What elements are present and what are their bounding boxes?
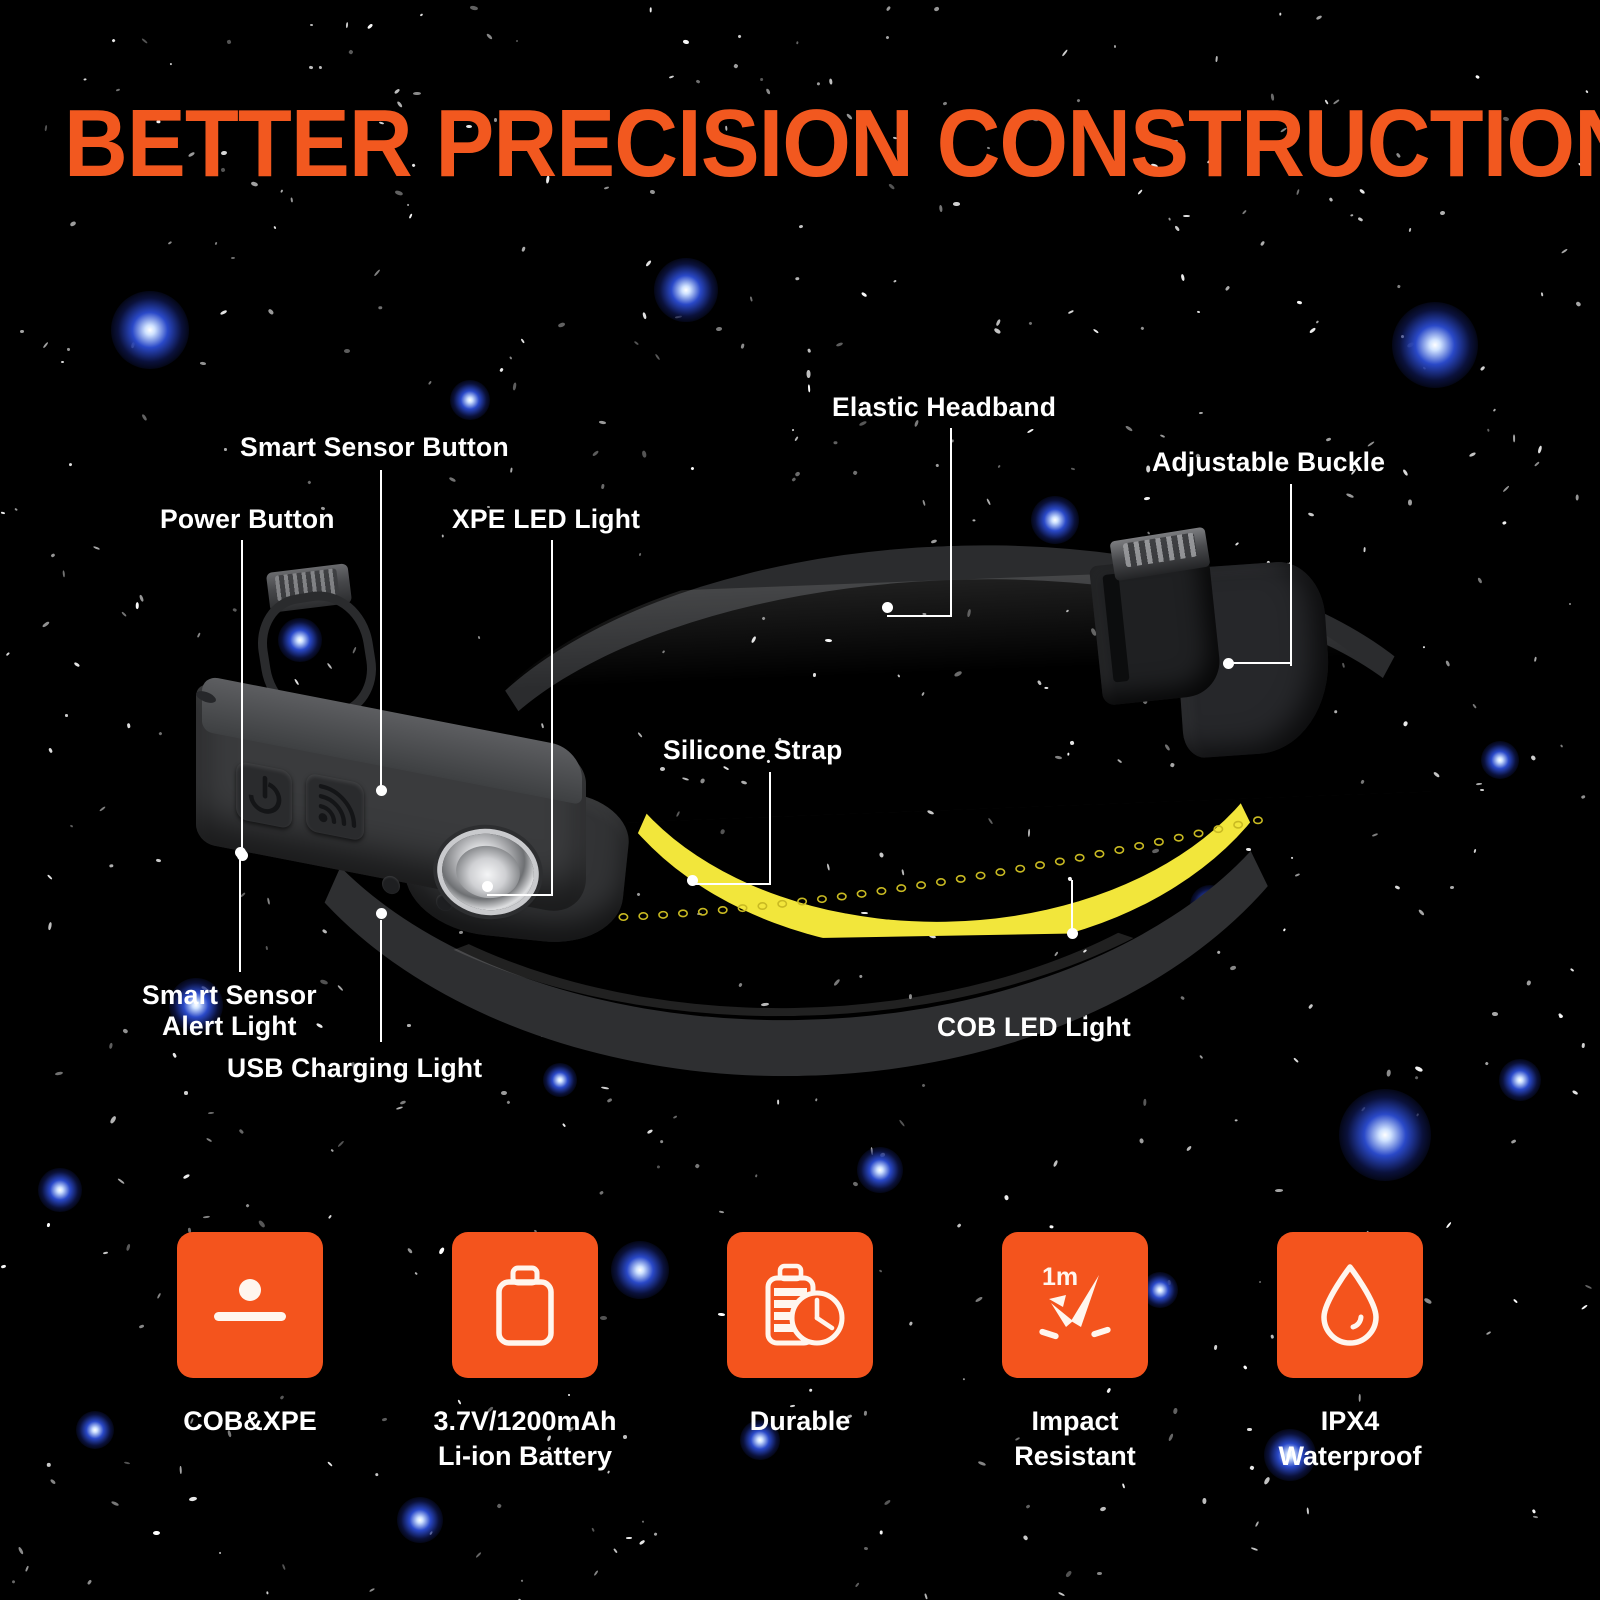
star-speck bbox=[716, 326, 722, 331]
star-speck bbox=[1328, 197, 1333, 202]
star-speck bbox=[994, 327, 1002, 334]
star-speck bbox=[1139, 1138, 1144, 1144]
star-speck bbox=[1372, 833, 1378, 837]
star-speck bbox=[1326, 437, 1332, 441]
star-speck bbox=[738, 34, 742, 38]
impact-arrow-icon: 1m bbox=[1025, 1255, 1125, 1355]
star-speck bbox=[43, 342, 49, 349]
star-speck bbox=[110, 1116, 117, 1124]
star-speck bbox=[506, 1100, 510, 1104]
star-speck bbox=[1469, 452, 1477, 458]
star-speck bbox=[307, 481, 311, 485]
star-speck bbox=[155, 859, 160, 863]
impact-tile: 1m bbox=[1002, 1232, 1148, 1378]
star-speck bbox=[861, 292, 868, 298]
power-button[interactable] bbox=[236, 761, 292, 830]
star-speck bbox=[696, 79, 701, 84]
star-speck bbox=[655, 354, 661, 361]
star-speck bbox=[117, 1178, 125, 1185]
star-speck bbox=[1409, 228, 1412, 232]
star-speck bbox=[268, 308, 275, 315]
star-speck bbox=[476, 1552, 482, 1558]
feature-label: IPX4 Waterproof bbox=[1279, 1404, 1422, 1474]
star-glow bbox=[111, 291, 189, 369]
star-speck bbox=[122, 1029, 128, 1035]
star-speck bbox=[139, 1324, 145, 1328]
star-speck bbox=[1511, 1139, 1517, 1144]
star-speck bbox=[1141, 326, 1145, 330]
star-speck bbox=[367, 23, 373, 29]
star-speck bbox=[396, 1106, 404, 1110]
star-speck bbox=[1575, 301, 1581, 307]
star-speck bbox=[855, 1583, 860, 1588]
power-icon bbox=[236, 761, 294, 830]
star-speck bbox=[1474, 849, 1477, 853]
callout-pointer-dot bbox=[376, 785, 387, 796]
star-speck bbox=[1415, 1066, 1423, 1073]
star-speck bbox=[1415, 1075, 1419, 1079]
star-speck bbox=[1480, 789, 1484, 792]
star-speck bbox=[1532, 1509, 1536, 1514]
star-speck bbox=[853, 1182, 859, 1187]
callout-leader-line bbox=[487, 894, 553, 896]
star-speck bbox=[1097, 1572, 1102, 1575]
star-speck bbox=[182, 1173, 190, 1179]
star-speck bbox=[853, 470, 858, 475]
star-speck bbox=[111, 38, 115, 42]
star-speck bbox=[126, 1244, 131, 1251]
star-speck bbox=[1022, 1535, 1028, 1542]
star-speck bbox=[1297, 301, 1302, 305]
star-speck bbox=[1147, 465, 1151, 472]
cob-xpe-icon bbox=[200, 1255, 300, 1355]
star-speck bbox=[995, 319, 1001, 327]
star-speck bbox=[419, 13, 422, 16]
star-speck bbox=[1215, 56, 1218, 62]
star-speck bbox=[1027, 429, 1034, 434]
star-speck bbox=[777, 1100, 779, 1105]
feature-label: COB&XPE bbox=[183, 1404, 317, 1439]
star-speck bbox=[102, 1251, 107, 1254]
star-speck bbox=[1491, 1011, 1497, 1015]
star-speck bbox=[408, 213, 412, 219]
star-speck bbox=[184, 1091, 188, 1095]
star-speck bbox=[795, 471, 802, 477]
star-speck bbox=[834, 441, 838, 444]
star-speck bbox=[886, 6, 892, 12]
battery-icon bbox=[475, 1255, 575, 1355]
star-speck bbox=[1143, 1098, 1146, 1105]
star-speck bbox=[1114, 45, 1117, 48]
star-glow bbox=[1339, 1089, 1431, 1181]
star-speck bbox=[807, 370, 811, 378]
star-speck bbox=[54, 1071, 62, 1076]
callout-label-cob-led-light: COB LED Light bbox=[937, 1012, 1131, 1043]
star-speck bbox=[515, 40, 518, 42]
star-speck bbox=[1569, 603, 1571, 605]
star-speck bbox=[1408, 500, 1412, 506]
star-speck bbox=[369, 1587, 375, 1592]
star-speck bbox=[110, 864, 114, 867]
star-speck bbox=[141, 38, 148, 44]
star-speck bbox=[99, 806, 105, 812]
star-speck bbox=[1005, 1194, 1010, 1200]
star-speck bbox=[282, 1564, 286, 1570]
star-speck bbox=[791, 477, 796, 482]
star-speck bbox=[267, 1591, 269, 1594]
star-speck bbox=[1316, 320, 1320, 324]
star-speck bbox=[50, 1479, 56, 1485]
star-speck bbox=[1386, 1069, 1391, 1077]
callout-leader-line bbox=[380, 920, 382, 1042]
star-speck bbox=[42, 621, 50, 628]
star-glow bbox=[38, 1168, 82, 1212]
star-speck bbox=[379, 306, 383, 309]
feature-label: Durable bbox=[750, 1404, 851, 1439]
star-speck bbox=[601, 1086, 609, 1090]
star-speck bbox=[1502, 521, 1507, 525]
star-speck bbox=[599, 420, 606, 424]
star-speck bbox=[1, 1264, 7, 1269]
star-speck bbox=[1581, 1304, 1588, 1310]
star-speck bbox=[169, 62, 172, 65]
callout-leader-line bbox=[380, 470, 382, 792]
star-speck bbox=[807, 348, 811, 353]
star-speck bbox=[69, 463, 72, 466]
star-speck bbox=[139, 595, 144, 603]
star-speck bbox=[816, 82, 820, 86]
star-speck bbox=[1538, 445, 1543, 454]
star-speck bbox=[344, 349, 350, 353]
star-speck bbox=[521, 1580, 524, 1583]
star-speck bbox=[522, 247, 526, 252]
star-speck bbox=[69, 825, 72, 828]
star-speck bbox=[591, 450, 598, 456]
star-speck bbox=[227, 39, 232, 44]
star-speck bbox=[407, 1024, 411, 1027]
star-glow bbox=[1392, 302, 1478, 388]
star-speck bbox=[1449, 886, 1454, 890]
callout-label-adjustable-buckle: Adjustable Buckle bbox=[1152, 447, 1385, 478]
star-speck bbox=[1476, 783, 1483, 786]
star-speck bbox=[952, 439, 954, 442]
star-speck bbox=[1070, 468, 1075, 471]
star-speck bbox=[349, 49, 354, 54]
star-speck bbox=[1197, 311, 1201, 314]
star-speck bbox=[231, 256, 235, 258]
star-speck bbox=[650, 7, 652, 12]
star-speck bbox=[330, 1149, 333, 1152]
star-speck bbox=[501, 1091, 507, 1095]
star-speck bbox=[172, 1053, 177, 1059]
star-speck bbox=[245, 1203, 249, 1207]
star-speck bbox=[126, 723, 130, 728]
star-speck bbox=[733, 63, 738, 68]
star-speck bbox=[47, 922, 51, 930]
star-speck bbox=[141, 414, 147, 421]
feature-cob-xpe: COB&XPE bbox=[150, 1232, 350, 1532]
star-speck bbox=[656, 1165, 660, 1169]
star-speck bbox=[14, 508, 17, 511]
star-speck bbox=[1534, 461, 1540, 467]
star-speck bbox=[1446, 1221, 1452, 1228]
star-speck bbox=[25, 1566, 29, 1572]
star-speck bbox=[1160, 434, 1165, 438]
star-speck bbox=[794, 437, 798, 442]
star-speck bbox=[1357, 217, 1363, 222]
smart-sensor-button[interactable] bbox=[306, 772, 364, 841]
star-speck bbox=[719, 1210, 725, 1213]
star-speck bbox=[1307, 512, 1314, 517]
star-speck bbox=[934, 6, 940, 12]
star-speck bbox=[1199, 1055, 1204, 1060]
star-speck bbox=[601, 484, 605, 490]
star-speck bbox=[1180, 274, 1185, 282]
star-speck bbox=[1242, 209, 1247, 214]
star-speck bbox=[1513, 1298, 1518, 1303]
star-speck bbox=[997, 465, 1001, 469]
star-glow bbox=[543, 1063, 577, 1097]
callout-pointer-dot bbox=[235, 847, 246, 858]
star-speck bbox=[1403, 469, 1409, 476]
star-speck bbox=[1062, 50, 1068, 57]
feature-durable: Durable bbox=[700, 1232, 900, 1532]
star-speck bbox=[1225, 286, 1230, 291]
feature-ipx4-waterproof: IPX4 Waterproof bbox=[1250, 1232, 1450, 1532]
star-speck bbox=[807, 385, 810, 393]
star-speck bbox=[87, 1580, 92, 1585]
star-speck bbox=[220, 310, 227, 316]
star-speck bbox=[1309, 327, 1316, 334]
callout-label-silicone-strap: Silicone Strap bbox=[663, 735, 843, 766]
star-speck bbox=[1275, 1188, 1283, 1191]
star-speck bbox=[290, 197, 293, 203]
star-speck bbox=[886, 36, 890, 40]
star-speck bbox=[755, 1175, 758, 1178]
star-speck bbox=[562, 1123, 566, 1127]
callout-leader-line bbox=[1228, 662, 1292, 664]
star-speck bbox=[1058, 1592, 1065, 1597]
star-speck bbox=[647, 1129, 654, 1135]
star-speck bbox=[428, 381, 432, 385]
star-glow bbox=[1481, 741, 1519, 779]
star-speck bbox=[921, 1083, 925, 1087]
headlamp-product-image bbox=[180, 520, 1320, 1020]
star-speck bbox=[328, 1214, 332, 1218]
star-speck bbox=[1363, 547, 1365, 552]
star-speck bbox=[470, 5, 478, 10]
star-speck bbox=[1572, 1089, 1579, 1095]
star-speck bbox=[1124, 425, 1132, 432]
feature-label: 3.7V/1200mAh Li-ion Battery bbox=[433, 1404, 616, 1474]
star-speck bbox=[48, 748, 53, 754]
callout-pointer-dot bbox=[882, 602, 893, 613]
star-speck bbox=[987, 498, 992, 506]
star-glow bbox=[450, 380, 490, 420]
star-speck bbox=[206, 1138, 213, 1143]
star-speck bbox=[69, 220, 76, 226]
callout-pointer-dot bbox=[1067, 928, 1078, 939]
star-speck bbox=[203, 1215, 210, 1218]
star-speck bbox=[1484, 1061, 1488, 1065]
star-speck bbox=[374, 269, 380, 276]
star-speck bbox=[124, 1462, 131, 1465]
star-speck bbox=[1582, 794, 1586, 798]
star-speck bbox=[936, 463, 939, 467]
feature-impact-resistant: 1m Impact Resistant bbox=[975, 1232, 1175, 1532]
star-speck bbox=[46, 1222, 49, 1226]
star-speck bbox=[214, 242, 217, 246]
star-speck bbox=[74, 662, 80, 667]
star-speck bbox=[639, 1540, 645, 1545]
star-speck bbox=[1049, 1225, 1053, 1228]
star-speck bbox=[17, 1546, 23, 1554]
star-speck bbox=[815, 1098, 818, 1101]
battery-tile bbox=[452, 1232, 598, 1378]
lamp-housing bbox=[196, 692, 616, 932]
star-speck bbox=[953, 202, 960, 206]
star-speck bbox=[1530, 755, 1536, 761]
callout-label-xpe-led-light: XPE LED Light bbox=[452, 504, 640, 535]
star-speck bbox=[1575, 495, 1578, 501]
star-speck bbox=[796, 41, 799, 44]
star-speck bbox=[1479, 366, 1484, 371]
star-speck bbox=[893, 280, 896, 283]
star-speck bbox=[1446, 660, 1451, 666]
star-speck bbox=[829, 79, 833, 85]
impact-height-badge: 1m bbox=[1042, 1263, 1078, 1291]
star-speck bbox=[208, 1111, 214, 1113]
star-speck bbox=[750, 296, 753, 301]
star-speck bbox=[346, 22, 349, 28]
star-speck bbox=[1251, 1547, 1258, 1551]
star-speck bbox=[1540, 292, 1543, 296]
star-speck bbox=[796, 277, 800, 281]
star-speck bbox=[924, 1593, 928, 1599]
star-speck bbox=[606, 1097, 611, 1102]
star-speck bbox=[641, 450, 646, 457]
callout-label-smart-sensor-alert-light: Smart Sensor Alert Light bbox=[142, 980, 317, 1043]
star-glow bbox=[857, 1147, 903, 1193]
callout-label-smart-sensor-button: Smart Sensor Button bbox=[240, 432, 509, 463]
infographic-page: BETTER PRECISION CONSTRUCTION bbox=[0, 0, 1600, 1600]
star-speck bbox=[258, 1219, 266, 1227]
waterproof-tile bbox=[1277, 1232, 1423, 1378]
star-speck bbox=[1585, 1285, 1592, 1290]
star-speck bbox=[200, 361, 207, 364]
feature-label: Impact Resistant bbox=[1014, 1404, 1136, 1474]
star-speck bbox=[634, 340, 639, 344]
star-speck bbox=[1512, 434, 1515, 442]
star-speck bbox=[1526, 980, 1531, 986]
star-speck bbox=[45, 125, 48, 131]
star-speck bbox=[136, 602, 140, 609]
star-speck bbox=[121, 612, 127, 618]
star-speck bbox=[239, 1129, 244, 1134]
star-speck bbox=[508, 356, 512, 360]
callout-pointer-dot bbox=[1223, 658, 1234, 669]
star-speck bbox=[158, 732, 162, 736]
star-speck bbox=[1486, 1331, 1492, 1335]
star-speck bbox=[47, 1463, 51, 1467]
star-speck bbox=[1144, 497, 1151, 501]
star-speck bbox=[65, 714, 68, 717]
star-glow bbox=[654, 258, 718, 322]
star-speck bbox=[691, 467, 695, 471]
star-speck bbox=[61, 361, 64, 363]
callout-leader-line bbox=[769, 772, 771, 884]
star-speck bbox=[319, 65, 322, 68]
star-speck bbox=[642, 312, 647, 319]
star-speck bbox=[93, 546, 100, 551]
star-speck bbox=[594, 1570, 599, 1576]
star-speck bbox=[939, 205, 943, 213]
callout-pointer-dot bbox=[482, 881, 493, 892]
star-speck bbox=[1235, 1119, 1238, 1121]
star-speck bbox=[309, 66, 313, 70]
star-speck bbox=[626, 1537, 632, 1539]
star-speck bbox=[1440, 211, 1446, 216]
star-speck bbox=[659, 1140, 663, 1144]
star-speck bbox=[1, 511, 6, 514]
star-speck bbox=[599, 1190, 604, 1195]
star-speck bbox=[224, 447, 227, 451]
star-speck bbox=[1168, 218, 1171, 222]
star-speck bbox=[1316, 14, 1323, 20]
star-speck bbox=[47, 874, 52, 879]
star-speck bbox=[111, 1500, 120, 1506]
star-speck bbox=[922, 500, 926, 506]
callout-leader-line bbox=[887, 615, 952, 617]
star-speck bbox=[673, 1115, 678, 1119]
star-speck bbox=[338, 1140, 345, 1147]
star-speck bbox=[1280, 13, 1283, 16]
star-speck bbox=[1569, 967, 1574, 971]
star-speck bbox=[695, 1163, 700, 1169]
water-droplet-icon bbox=[1300, 1255, 1400, 1355]
star-speck bbox=[310, 24, 313, 26]
star-speck bbox=[486, 33, 493, 40]
star-glow bbox=[1499, 1059, 1541, 1101]
star-speck bbox=[864, 1546, 868, 1550]
star-speck bbox=[669, 75, 674, 79]
callout-leader-line bbox=[239, 860, 241, 972]
star-speck bbox=[1418, 909, 1425, 916]
star-speck bbox=[520, 338, 525, 344]
star-speck bbox=[510, 468, 513, 473]
star-speck bbox=[1502, 486, 1509, 493]
callout-leader-line bbox=[1290, 484, 1292, 666]
star-speck bbox=[956, 1223, 961, 1228]
star-speck bbox=[1199, 411, 1203, 414]
star-speck bbox=[799, 225, 804, 229]
star-speck bbox=[613, 1549, 618, 1554]
star-speck bbox=[1346, 493, 1354, 499]
star-speck bbox=[683, 39, 690, 44]
star-speck bbox=[1582, 1043, 1586, 1048]
star-speck bbox=[51, 554, 56, 559]
star-speck bbox=[759, 78, 762, 81]
star-speck bbox=[109, 1042, 114, 1049]
callout-pointer-dot bbox=[376, 908, 387, 919]
star-speck bbox=[1053, 1160, 1059, 1168]
star-speck bbox=[1093, 329, 1099, 334]
star-speck bbox=[1065, 1570, 1072, 1578]
callout-label-power-button: Power Button bbox=[160, 504, 335, 535]
star-speck bbox=[219, 1551, 222, 1554]
star-speck bbox=[500, 367, 505, 372]
star-speck bbox=[1293, 1057, 1299, 1063]
